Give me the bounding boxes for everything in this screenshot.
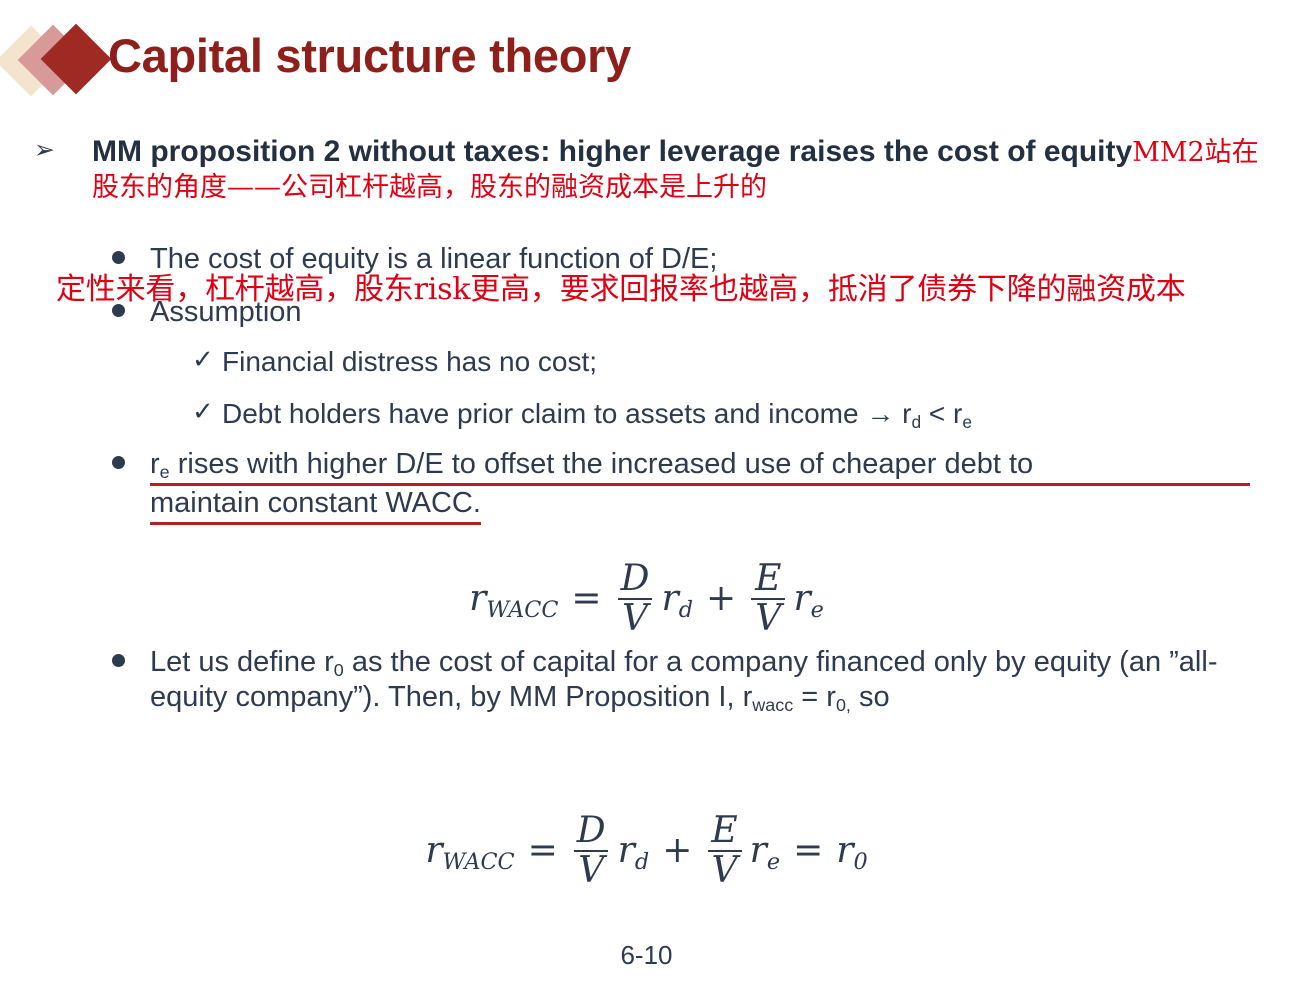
bullet-re-line-1-text: rises with higher D/E to offset the incr…	[170, 448, 1034, 480]
var-rd-sub: d	[911, 412, 921, 432]
arrow-bullet-icon: ➢	[34, 136, 55, 166]
formula2-frac1-denominator: V	[574, 850, 608, 890]
check-debt-text-a: Debt holders have prior claim to assets …	[222, 398, 859, 429]
formula2-re-base: r	[750, 830, 767, 871]
round-bullet-icon	[112, 456, 125, 469]
check-item-financial-distress-text: Financial distress has no cost;	[222, 345, 1232, 379]
formula2-rd-base: r	[618, 830, 635, 871]
var-re-base: r	[953, 398, 962, 429]
formula1-frac1-numerator: D	[617, 560, 654, 598]
formula1-plus: +	[706, 578, 736, 619]
slide-header: Capital structure theory	[0, 12, 1293, 104]
formula2-frac2-denominator: V	[708, 850, 742, 890]
formula-wacc-2-expr: rWACC = D V rd + E V re = r0	[425, 812, 867, 890]
bullet-re-rises-text: re rises with higher D/E to offset the i…	[150, 447, 1272, 525]
formula2-equals-2: =	[793, 830, 823, 871]
slide-body: ➢ MM proposition 2 without taxes: higher…	[0, 112, 1293, 932]
less-than-sign: <	[929, 398, 945, 429]
round-bullet-icon	[112, 251, 125, 264]
diamond-logo-icon	[4, 24, 108, 98]
var-re: re	[953, 398, 972, 429]
define-part-1: Let us define r	[150, 646, 334, 678]
formula-wacc-1: rWACC = D V rd + E V re	[0, 560, 1293, 638]
formula2-fraction-ev: E V	[707, 812, 741, 890]
formula-wacc-2: rWACC = D V rd + E V re = r0	[0, 812, 1293, 890]
formula1-rd-base: r	[661, 578, 678, 619]
bullet-re-line-1: re rises with higher D/E to offset the i…	[150, 447, 1250, 486]
bullet-define-r0-text: Let us define r0 as the cost of capital …	[150, 645, 1272, 715]
annotation-overlay-cn: 定性来看，杠杆越高，股东risk更高，要求回报率也越高，抵消了债券下降的融资成本	[56, 264, 1293, 308]
bullet-mm-proposition-2: ➢ MM proposition 2 without taxes: higher…	[34, 134, 1264, 205]
define-sub-3: 0,	[836, 695, 851, 715]
formula1-re-base: r	[793, 578, 810, 619]
formula2-r0-base: r	[836, 830, 853, 871]
formula1-rd-sub: d	[679, 597, 693, 623]
formula2-fraction-dv: D V	[573, 812, 610, 890]
formula2-plus: +	[662, 830, 692, 871]
var-re-lead-sub: e	[160, 462, 170, 482]
checkmark-icon: ✓	[192, 396, 214, 427]
bullet-define-r0: Let us define r0 as the cost of capital …	[112, 645, 1272, 715]
page-title: Capital structure theory	[108, 28, 631, 83]
formula2-re-sub: e	[767, 849, 780, 875]
var-re-sub: e	[962, 412, 972, 432]
var-re-lead: re	[150, 448, 170, 480]
formula1-lhs-base: r	[469, 578, 486, 619]
formula1-rd: rd	[661, 578, 693, 619]
define-part-4: so	[851, 681, 890, 713]
checkmark-icon: ✓	[192, 344, 214, 375]
formula2-lhs-sub: WACC	[443, 849, 515, 875]
formula1-re: re	[793, 578, 823, 619]
formula1-re-sub: e	[811, 597, 824, 623]
define-sub-2: wacc	[752, 695, 793, 715]
formula1-fraction-ev: E V	[751, 560, 785, 638]
formula2-frac1-numerator: D	[573, 812, 610, 850]
formula1-fraction-dv: D V	[617, 560, 654, 638]
formula1-frac2-numerator: E	[751, 560, 785, 598]
var-rd: rd	[902, 398, 921, 429]
page-number: 6-10	[0, 940, 1293, 971]
formula1-lhs: rWACC	[469, 578, 558, 619]
bullet-mm-proposition-2-text: MM proposition 2 without taxes: higher l…	[92, 134, 1264, 205]
formula2-equals: =	[528, 830, 558, 871]
define-part-3: = r	[793, 681, 836, 713]
bullet-re-rises: re rises with higher D/E to offset the i…	[112, 447, 1272, 525]
bullet-main-en: MM proposition 2 without taxes: higher l…	[92, 135, 1132, 168]
formula1-lhs-sub: WACC	[486, 597, 558, 623]
formula2-r0: r0	[836, 830, 867, 871]
check-item-debt-holders: ✓ Debt holders have prior claim to asset…	[192, 397, 1232, 431]
formula2-rd: rd	[618, 830, 650, 871]
bullet-re-line-2: maintain constant WACC.	[150, 486, 481, 525]
formula2-re: re	[750, 830, 780, 871]
formula-wacc-1-expr: rWACC = D V rd + E V re	[469, 560, 824, 638]
formula2-frac2-numerator: E	[707, 812, 741, 850]
formula2-lhs-base: r	[425, 830, 442, 871]
round-bullet-icon	[112, 654, 125, 667]
check-item-financial-distress: ✓ Financial distress has no cost;	[192, 345, 1232, 379]
var-re-lead-base: r	[150, 448, 160, 480]
formula1-equals: =	[571, 578, 601, 619]
formula1-frac2-denominator: V	[751, 598, 785, 638]
check-item-debt-holders-text: Debt holders have prior claim to assets …	[222, 397, 1232, 431]
formula2-rd-sub: d	[635, 849, 649, 875]
formula1-frac1-denominator: V	[618, 598, 652, 638]
formula2-lhs: rWACC	[425, 830, 514, 871]
formula2-r0-sub: 0	[853, 849, 867, 875]
rightwards-arrow-icon: →	[866, 398, 894, 429]
define-sub-1: 0	[334, 660, 344, 680]
